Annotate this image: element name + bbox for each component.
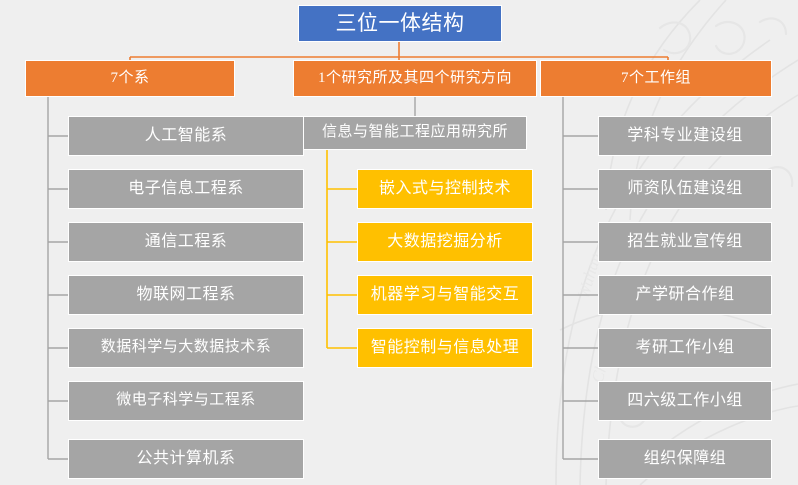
node-research-direction-3[interactable]: 机器学习与智能交互: [357, 275, 533, 315]
node-research-direction-2[interactable]: 大数据挖掘分析: [357, 222, 533, 262]
node-department-5[interactable]: 数据科学与大数据技术系: [68, 328, 304, 368]
node-branch-header-departments[interactable]: 7个系: [25, 60, 235, 97]
node-department-6[interactable]: 微电子科学与工程系: [68, 381, 304, 421]
node-department-4[interactable]: 物联网工程系: [68, 275, 304, 315]
node-department-1[interactable]: 人工智能系: [68, 116, 304, 156]
node-institute[interactable]: 信息与智能工程应用研究所: [303, 116, 527, 150]
node-working-group-6[interactable]: 四六级工作小组: [598, 381, 772, 421]
node-working-group-3[interactable]: 招生就业宣传组: [598, 222, 772, 262]
node-department-3[interactable]: 通信工程系: [68, 222, 304, 262]
connector-orange-trunk: [130, 42, 668, 62]
node-department-2[interactable]: 电子信息工程系: [68, 169, 304, 209]
node-research-direction-4[interactable]: 智能控制与信息处理: [357, 328, 533, 368]
connector-departments: [48, 97, 68, 459]
node-working-group-5[interactable]: 考研工作小组: [598, 328, 772, 368]
node-research-direction-1[interactable]: 嵌入式与控制技术: [357, 169, 533, 209]
node-working-group-4[interactable]: 产学研合作组: [598, 275, 772, 315]
node-working-group-1[interactable]: 学科专业建设组: [598, 116, 772, 156]
org-chart-diagram: Wuhan Ch: [0, 0, 798, 485]
node-department-7[interactable]: 公共计算机系: [68, 439, 304, 479]
connector-research-directions: [327, 150, 357, 348]
node-working-group-7[interactable]: 组织保障组: [598, 439, 772, 479]
node-branch-header-institute[interactable]: 1个研究所及其四个研究方向: [293, 60, 537, 97]
node-working-group-2[interactable]: 师资队伍建设组: [598, 169, 772, 209]
connector-working-groups: [563, 97, 598, 459]
node-branch-header-working-groups[interactable]: 7个工作组: [540, 60, 772, 97]
node-root-title[interactable]: 三位一体结构: [298, 5, 502, 42]
